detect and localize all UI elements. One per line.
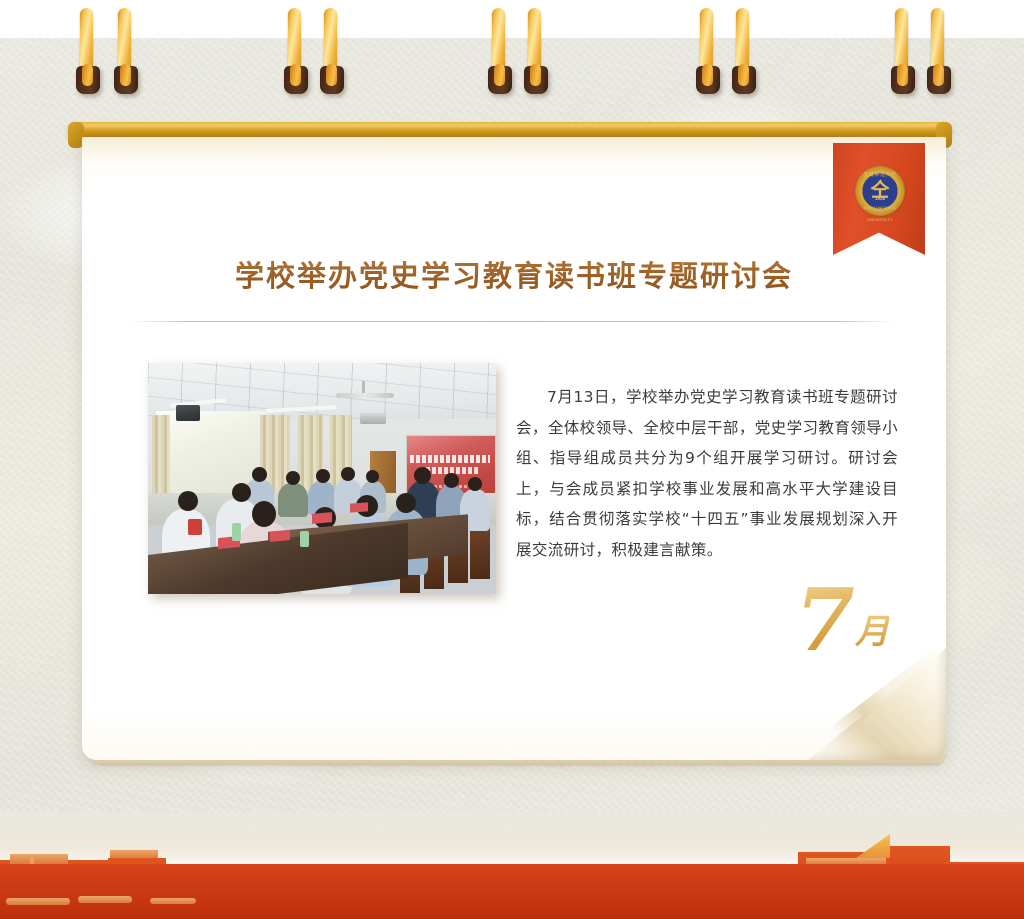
photo-bottle: [188, 519, 202, 535]
photo-screen-text-line1: [410, 455, 490, 463]
photo-person-head: [232, 483, 251, 502]
binder-ring-2b: [320, 8, 344, 90]
ring-base-icon: [524, 66, 548, 94]
photo-person-head: [444, 473, 459, 488]
photo-person-head: [396, 493, 416, 513]
photo-person-head: [286, 471, 300, 485]
photo-name-card: [312, 512, 332, 524]
photo-person: [278, 483, 308, 517]
photo-name-card: [270, 530, 290, 542]
background-top-band: [0, 0, 1024, 40]
ring-base-icon: [114, 66, 138, 94]
page-top-shade: [82, 137, 946, 165]
ring-base-icon: [927, 66, 951, 94]
binder-ring-3a: [488, 8, 512, 90]
binder-ring-4b: [732, 8, 756, 90]
skyline-ground: [0, 864, 1024, 919]
binder-ring-1a: [76, 8, 100, 90]
binder-ring-4a: [696, 8, 720, 90]
ring-base-icon: [284, 66, 308, 94]
skyline-bridge: [6, 898, 70, 905]
campus-skyline-footer: 千教万教教人求真 千学万学学做真人: [0, 812, 1024, 919]
ring-base-icon: [732, 66, 756, 94]
photo-person-head: [316, 469, 330, 483]
month-number: 7: [795, 578, 855, 664]
photo-person-head: [414, 467, 431, 484]
binder-ring-1b: [114, 8, 138, 90]
photo-person-head: [468, 477, 482, 491]
ring-base-icon: [696, 66, 720, 94]
photo-bottle: [300, 531, 309, 547]
calendar-gold-rod: [68, 122, 952, 137]
photo-ceiling-fan: [336, 393, 394, 398]
photo-person-head: [341, 467, 355, 481]
photo-person-head: [366, 470, 379, 483]
title-divider: [130, 321, 896, 322]
month-unit-label: 月: [855, 615, 889, 649]
binder-ring-5b: [927, 8, 951, 90]
photo-bottle: [232, 523, 241, 541]
binder-ring-5a: [891, 8, 915, 90]
photo-person-head: [252, 501, 276, 527]
ring-base-icon: [488, 66, 512, 94]
university-name-en: ANHUI NORMAL UNIVERSITY: [856, 202, 904, 214]
skyline-bridge: [150, 898, 196, 904]
article-body: 7月13日，学校举办党史学习教育读书班专题研讨会，全体校领导、全校中层干部，党史…: [516, 382, 898, 565]
ring-base-icon: [76, 66, 100, 94]
photo-person-head: [252, 467, 267, 482]
photo-projector: [360, 413, 386, 424]
skyline-building-light: [10, 854, 68, 864]
ring-base-icon: [891, 66, 915, 94]
meeting-photo: [148, 363, 496, 594]
photo-wall-speaker: [176, 405, 200, 421]
binder-ring-3b: [524, 8, 548, 90]
binder-ring-2a: [284, 8, 308, 90]
skyline-bridge: [78, 896, 132, 903]
photo-person-head: [178, 491, 198, 511]
photo-name-card: [350, 502, 368, 512]
page-title: 学校举办党史学习教育读书班专题研讨会: [82, 256, 946, 296]
ring-base-icon: [320, 66, 344, 94]
